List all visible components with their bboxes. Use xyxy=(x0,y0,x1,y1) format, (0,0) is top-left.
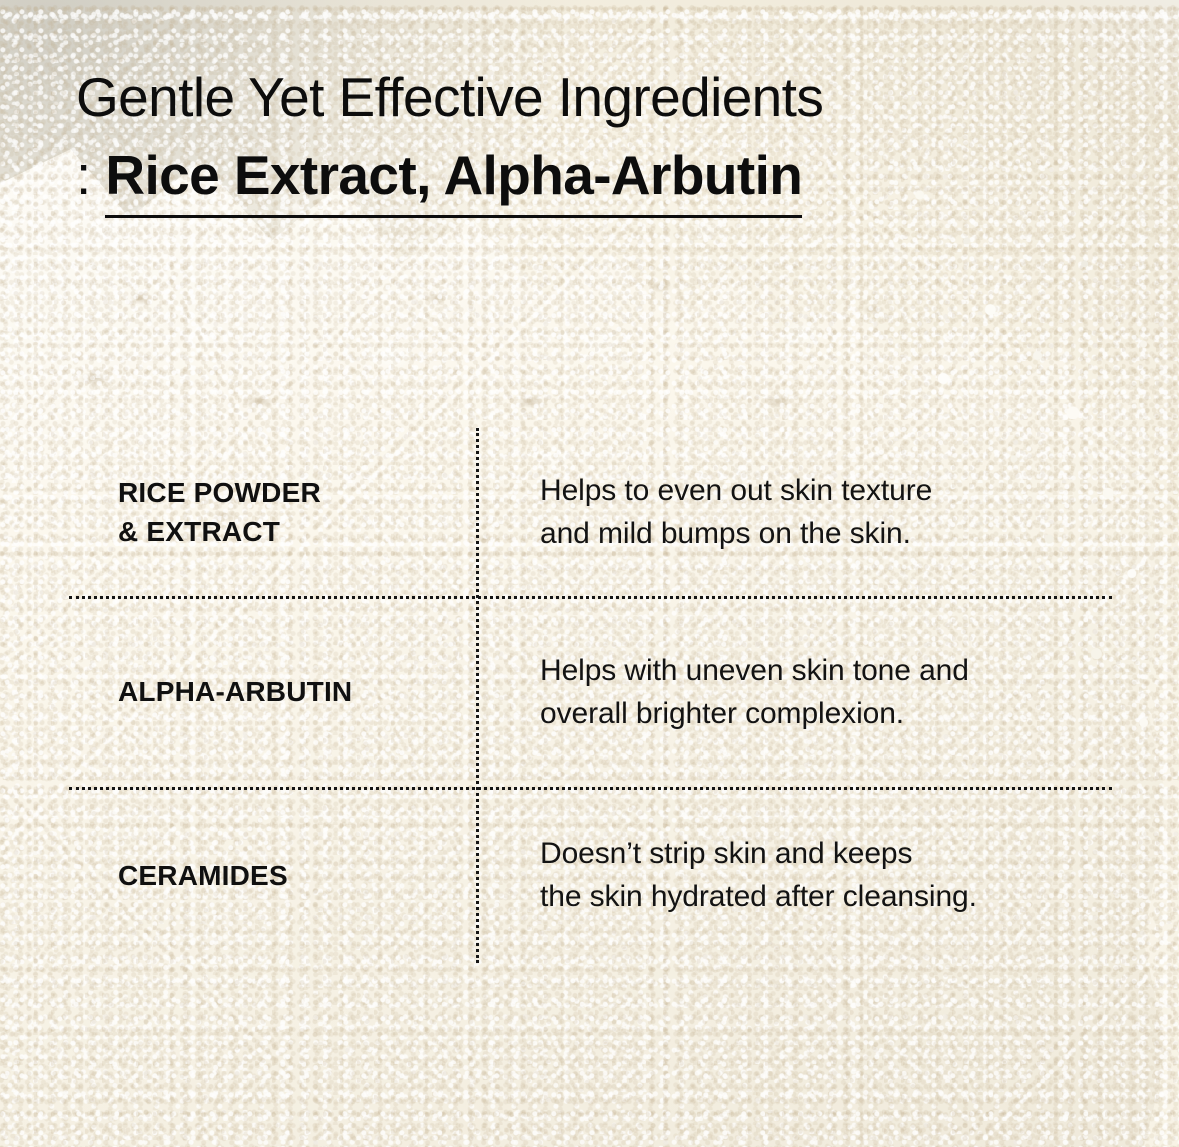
ingredient-description-line-1: Doesn’t strip skin and keeps xyxy=(540,832,1112,875)
ingredient-name-line-2: & EXTRACT xyxy=(118,512,476,551)
ingredient-name-line-1: CERAMIDES xyxy=(118,856,476,895)
headline-line-1: Gentle Yet Effective Ingredients xyxy=(76,58,823,136)
ingredients-table: RICE POWDER & EXTRACT Helps to even out … xyxy=(69,428,1112,963)
product-ingredients-infographic: Gentle Yet Effective Ingredients : Rice … xyxy=(0,0,1179,1147)
ingredient-name-line-1: RICE POWDER xyxy=(118,473,476,512)
headline-line-2: : Rice Extract, Alpha-Arbutin xyxy=(76,136,802,214)
ingredient-name: RICE POWDER & EXTRACT xyxy=(69,473,476,551)
ingredient-name: ALPHA-ARBUTIN xyxy=(69,672,476,711)
ingredient-description-line-1: Helps to even out skin texture xyxy=(540,469,1112,512)
headline-underlined-ingredients: Rice Extract, Alpha-Arbutin xyxy=(105,144,802,218)
ingredient-description-line-2: overall brighter complexion. xyxy=(540,692,1112,735)
ingredient-description-line-2: the skin hydrated after cleansing. xyxy=(540,875,1112,918)
ingredient-description: Helps with uneven skin tone and overall … xyxy=(476,649,1112,735)
headline-colon: : xyxy=(76,144,105,206)
table-row: RICE POWDER & EXTRACT Helps to even out … xyxy=(69,428,1112,596)
table-row: CERAMIDES Doesn’t strip skin and keeps t… xyxy=(69,787,1112,963)
ingredient-description: Helps to even out skin texture and mild … xyxy=(476,469,1112,555)
ingredient-description-line-2: and mild bumps on the skin. xyxy=(540,512,1112,555)
table-row: ALPHA-ARBUTIN Helps with uneven skin ton… xyxy=(69,596,1112,787)
ingredient-description: Doesn’t strip skin and keeps the skin hy… xyxy=(476,832,1112,918)
ingredient-name-line-1: ALPHA-ARBUTIN xyxy=(118,672,476,711)
ingredient-name: CERAMIDES xyxy=(69,856,476,895)
ingredient-description-line-1: Helps with uneven skin tone and xyxy=(540,649,1112,692)
